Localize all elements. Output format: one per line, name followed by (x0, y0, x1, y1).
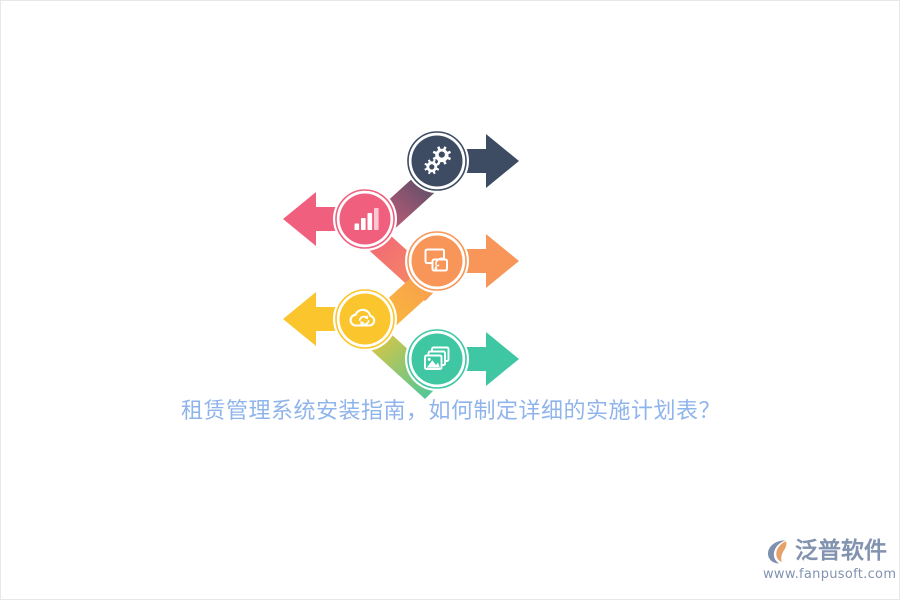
arrow-step-wireless-screen[interactable] (405, 229, 519, 293)
arrow-step-gallery[interactable] (405, 327, 519, 391)
fanpu-logo-icon (763, 536, 793, 566)
brand-watermark: 泛普软件 www.fanpusoft.com (763, 535, 891, 587)
watermark-url: www.fanpusoft.com (763, 567, 891, 582)
arrow-step-analytics[interactable] (283, 187, 397, 251)
arrow-step-settings[interactable] (405, 129, 519, 193)
page-caption: 租赁管理系统安装指南，如何制定详细的实施计划表？ (1, 397, 900, 427)
arrow-step-cloud-sync[interactable] (283, 287, 397, 351)
zigzag-arrow-process-diagram (271, 119, 531, 389)
watermark-brand-name: 泛普软件 (795, 536, 887, 566)
screenshot-canvas: 租赁管理系统安装指南，如何制定详细的实施计划表？ 泛普软件 www.fanpus… (0, 0, 900, 600)
watermark-row: 泛普软件 (763, 535, 891, 567)
